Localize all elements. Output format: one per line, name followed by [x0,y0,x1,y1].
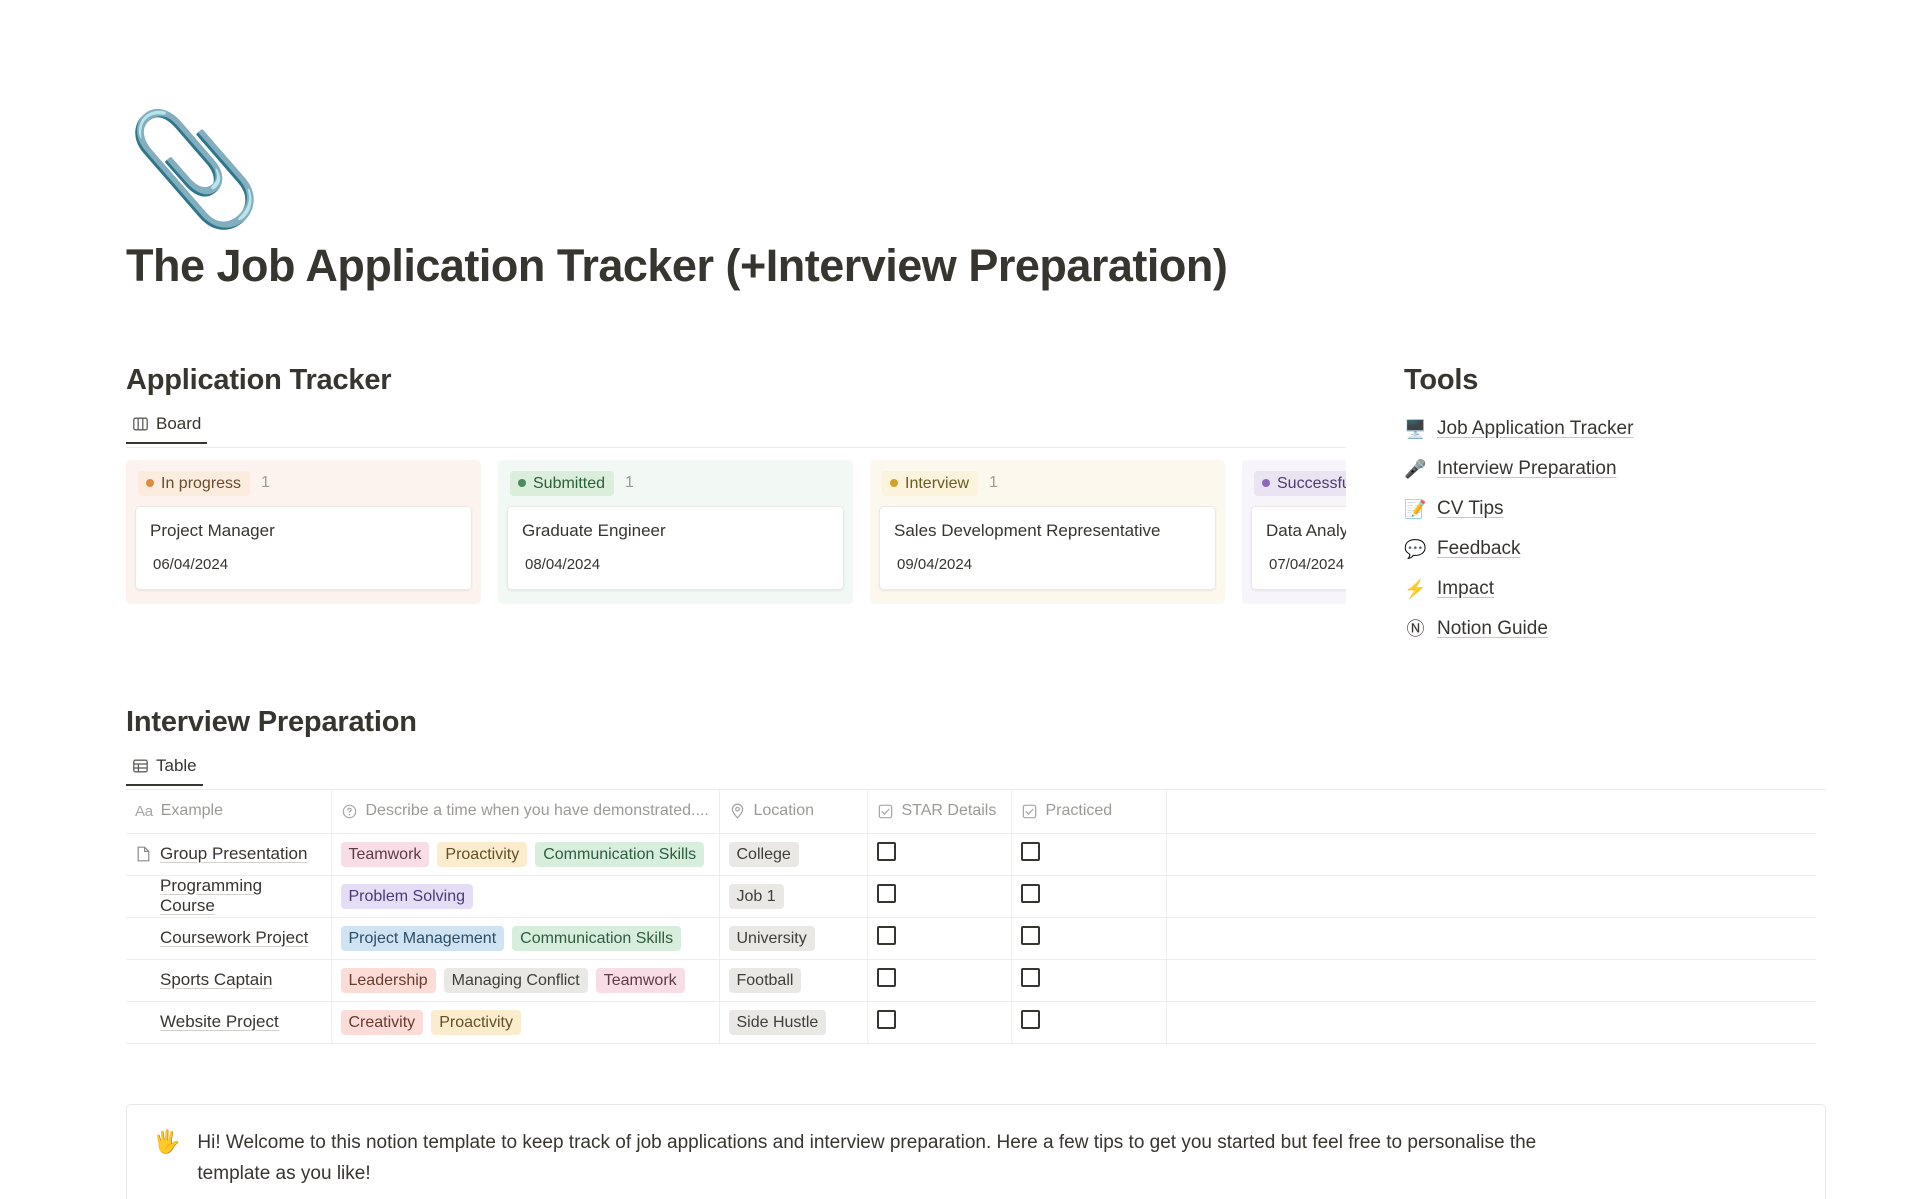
tools-item-cv-tips[interactable]: 📝 CV Tips [1404,489,1844,529]
table-header-empty [1166,790,1816,833]
monitor-icon: 🖥️ [1404,418,1427,441]
application-tracker-heading: Application Tracker [126,364,1346,397]
lightning-icon: ⚡ [1404,578,1427,601]
cell-skills[interactable]: Teamwork Proactivity Communication Skill… [331,833,719,875]
board-icon [132,416,149,433]
cell-star-details[interactable] [867,959,1011,1001]
skill-tag: Communication Skills [512,926,681,951]
cell-example[interactable]: Coursework Project [126,917,331,959]
card-title: Graduate Engineer [522,520,829,542]
card-title: Sales Development Representative [894,520,1201,542]
map-pin-icon [729,803,746,820]
board-column-interview: Interview 1 Sales Development Representa… [870,460,1225,604]
skill-tag: Managing Conflict [444,968,588,993]
status-badge-submitted[interactable]: Submitted [510,471,614,496]
board-card[interactable]: Graduate Engineer 08/04/2024 [507,506,844,590]
table-header-practiced[interactable]: Practiced [1011,790,1166,833]
tracker-view-tabs: Board [126,414,1346,448]
page-title: The Job Application Tracker (+Interview … [126,240,1227,292]
table-header-example[interactable]: Aa Example [126,790,331,833]
status-label: Interview [905,474,969,493]
table-icon [132,758,149,775]
tab-board-label: Board [156,414,201,434]
skill-tag: Teamwork [341,842,430,867]
row-title[interactable]: Group Presentation [160,844,307,864]
status-badge-in-progress[interactable]: In progress [138,471,250,496]
notion-logo-icon: Ⓝ [1404,618,1427,641]
tab-board[interactable]: Board [126,414,207,444]
tools-item-label[interactable]: Feedback [1437,538,1520,560]
board-card[interactable]: Project Manager 06/04/2024 [135,506,472,590]
cell-empty [1166,959,1816,1001]
prep-view-tabs: Table [126,756,1826,790]
page-icon [135,846,152,863]
board-column-in-progress: In progress 1 Project Manager 06/04/2024 [126,460,481,604]
tools-item-label[interactable]: Job Application Tracker [1437,418,1633,440]
star-details-checkbox[interactable] [877,968,896,987]
status-dot-icon [518,479,526,487]
checkbox-icon [877,803,894,820]
location-tag: University [729,926,815,951]
page-icon-placeholder [135,930,152,947]
row-title[interactable]: Coursework Project [160,928,308,948]
speech-balloon-icon: 💬 [1404,538,1427,561]
star-details-checkbox[interactable] [877,842,896,861]
table-row[interactable]: Coursework Project Project Management Co… [126,917,1816,959]
tools-item-notion-guide[interactable]: Ⓝ Notion Guide [1404,609,1844,649]
cell-empty [1166,1001,1816,1043]
skill-tag: Communication Skills [535,842,704,867]
cell-practiced[interactable] [1011,875,1166,917]
cell-practiced[interactable] [1011,959,1166,1001]
notion-page: 📎 The Job Application Tracker (+Intervie… [0,0,1920,1199]
practiced-checkbox[interactable] [1021,1010,1040,1029]
cell-practiced[interactable] [1011,1001,1166,1043]
location-tag: Football [729,968,802,993]
practiced-checkbox[interactable] [1021,842,1040,861]
paperclip-icon: 📎 [126,110,246,230]
card-date: 06/04/2024 [150,555,457,574]
table-header-label: Describe a time when you have demonstrat… [366,802,709,820]
callout-body: Hi! Welcome to this notion template to k… [197,1127,1536,1199]
tools-item-feedback[interactable]: 💬 Feedback [1404,529,1844,569]
location-tag: Job 1 [729,884,784,909]
table-row[interactable]: Website Project Creativity Proactivity S… [126,1001,1816,1043]
raised-hand-icon: 🖐️ [153,1127,180,1199]
tools-item-impact[interactable]: ⚡ Impact [1404,569,1844,609]
skill-tag: Problem Solving [341,884,474,909]
cell-location[interactable]: Job 1 [719,875,867,917]
table-header-star-details[interactable]: STAR Details [867,790,1011,833]
board-column-submitted: Submitted 1 Graduate Engineer 08/04/2024 [498,460,853,604]
tools-item-label[interactable]: Impact [1437,578,1494,600]
skill-tag: Leadership [341,968,436,993]
table-header-label: Practiced [1046,802,1113,820]
card-title: Data Analyst [1266,520,1346,542]
column-count: 1 [261,474,270,492]
interview-preparation-heading: Interview Preparation [126,706,1826,739]
cell-practiced[interactable] [1011,833,1166,875]
callout-line-1: Hi! Welcome to this notion template to k… [197,1127,1536,1158]
cell-practiced[interactable] [1011,917,1166,959]
interview-preparation-section: Interview Preparation Table [126,706,1826,1044]
cell-skills[interactable]: Creativity Proactivity [331,1001,719,1043]
star-details-checkbox[interactable] [877,926,896,945]
cell-example[interactable]: Sports Captain [126,959,331,1001]
tools-item-interview-preparation[interactable]: 🎤 Interview Preparation [1404,449,1844,489]
tools-item-label[interactable]: Notion Guide [1437,618,1548,640]
column-header: Successful [1251,469,1346,497]
skill-tag: Project Management [341,926,505,951]
table-header-label: Example [161,802,223,820]
table-row[interactable]: Sports Captain Leadership Managing Confl… [126,959,1816,1001]
column-count: 1 [625,474,634,492]
status-dot-icon [890,479,898,487]
cell-skills[interactable]: Problem Solving [331,875,719,917]
row-title[interactable]: Sports Captain [160,970,272,990]
star-details-checkbox[interactable] [877,884,896,903]
tools-section: Tools 🖥️ Job Application Tracker 🎤 Inter… [1404,364,1844,649]
table-header-label: STAR Details [902,802,997,820]
tools-heading: Tools [1404,364,1844,397]
tab-table-label: Table [156,756,197,776]
page-icon-placeholder [135,1014,152,1031]
cell-empty [1166,875,1816,917]
cell-location[interactable]: Football [719,959,867,1001]
cell-skills[interactable]: Project Management Communication Skills [331,917,719,959]
card-date: 09/04/2024 [894,555,1201,574]
status-dot-icon [1262,479,1270,487]
tools-item-job-application-tracker[interactable]: 🖥️ Job Application Tracker [1404,409,1844,449]
cell-example[interactable]: Group Presentation [126,833,331,875]
practiced-checkbox[interactable] [1021,884,1040,903]
tools-item-label[interactable]: Interview Preparation [1437,458,1617,480]
cell-star-details[interactable] [867,875,1011,917]
cell-star-details[interactable] [867,833,1011,875]
table-header-label: Location [754,802,815,820]
cell-location[interactable]: Side Hustle [719,1001,867,1043]
status-badge-interview[interactable]: Interview [882,471,978,496]
tab-table[interactable]: Table [126,756,203,786]
cell-location[interactable]: University [719,917,867,959]
row-title[interactable]: Website Project [160,1012,279,1032]
cell-location[interactable]: College [719,833,867,875]
table-row[interactable]: Programming Course Problem Solving Job 1 [126,875,1816,917]
board-column-successful: Successful Data Analyst 07/04/2024 [1242,460,1346,604]
skill-tag: Creativity [341,1010,424,1035]
skill-tag: Proactivity [431,1010,521,1035]
cell-star-details[interactable] [867,1001,1011,1043]
table-header-location[interactable]: Location [719,790,867,833]
card-title: Project Manager [150,520,457,542]
cell-empty [1166,833,1816,875]
cell-skills[interactable]: Leadership Managing Conflict Teamwork [331,959,719,1001]
tools-item-label[interactable]: CV Tips [1437,498,1504,520]
callout-line-2: template as you like! [197,1158,1536,1189]
table-row[interactable]: Group Presentation Teamwork Proactivity … [126,833,1816,875]
row-title[interactable]: Programming Course [160,876,322,916]
card-date: 08/04/2024 [522,555,829,574]
board-card[interactable]: Sales Development Representative 09/04/2… [879,506,1216,590]
title-aa-icon: Aa [135,803,153,820]
table-header-row: Aa Example [126,790,1816,833]
column-count: 1 [989,474,998,492]
card-date: 07/04/2024 [1266,555,1346,574]
location-tag: College [729,842,799,867]
skill-tag: Teamwork [596,968,685,993]
table-header-describe[interactable]: Describe a time when you have demonstrat… [331,790,719,833]
skill-tag: Proactivity [437,842,527,867]
location-tag: Side Hustle [729,1010,827,1035]
application-tracker-section: Application Tracker Board [126,364,1346,604]
page-icon-placeholder [135,888,152,905]
column-header: Interview 1 [879,469,1216,497]
practiced-checkbox[interactable] [1021,968,1040,987]
status-label: In progress [161,474,241,493]
board-card[interactable]: Data Analyst 07/04/2024 [1251,506,1346,590]
status-badge-successful[interactable]: Successful [1254,471,1346,496]
star-details-checkbox[interactable] [877,1010,896,1029]
cell-star-details[interactable] [867,917,1011,959]
page-icon-placeholder [135,972,152,989]
status-label: Successful [1277,474,1346,493]
status-dot-icon [146,479,154,487]
interview-prep-table: Aa Example [126,790,1816,1044]
status-label: Submitted [533,474,605,493]
kanban-board: In progress 1 Project Manager 06/04/2024… [126,460,1346,604]
practiced-checkbox[interactable] [1021,926,1040,945]
checkbox-icon [1021,803,1038,820]
column-header: Submitted 1 [507,469,844,497]
memo-icon: 📝 [1404,498,1427,521]
tools-list: 🖥️ Job Application Tracker 🎤 Interview P… [1404,409,1844,649]
cell-empty [1166,917,1816,959]
question-icon [341,803,358,820]
column-header: In progress 1 [135,469,472,497]
cell-example[interactable]: Programming Course [126,875,331,917]
cell-example[interactable]: Website Project [126,1001,331,1043]
microphone-icon: 🎤 [1404,458,1427,481]
welcome-callout: 🖐️ Hi! Welcome to this notion template t… [126,1104,1826,1199]
